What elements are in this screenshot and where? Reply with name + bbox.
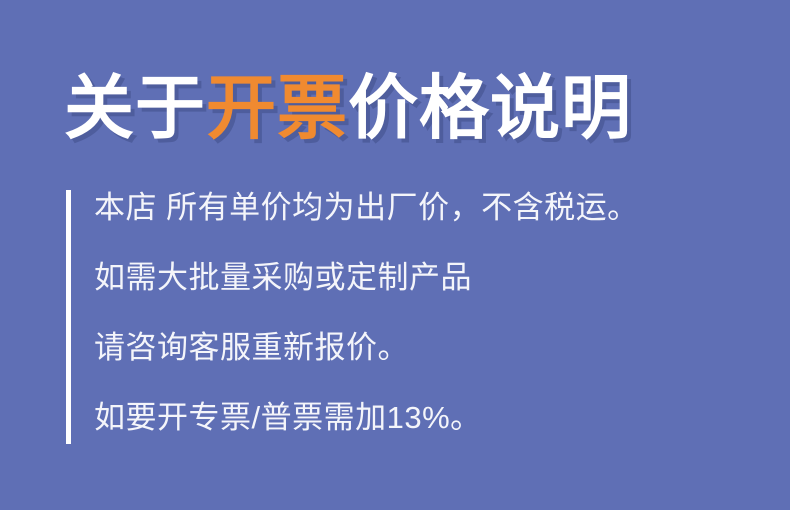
title-segment-highlight: 开票 — [206, 73, 348, 143]
title-segment-prefix: 关于 — [64, 73, 206, 143]
title-segment-suffix: 价格说明 — [348, 73, 632, 143]
notice-line: 本店 所有单价均为出厂价，不含税运。 — [94, 192, 726, 262]
notice-line: 请咨询客服重新报价。 — [94, 332, 726, 402]
banner-title: 关于 开票 价格说明 — [64, 62, 754, 154]
notice-line: 如需大批量采购或定制产品 — [94, 262, 726, 332]
notice-line: 如要开专票/普票需加13%。 — [94, 402, 726, 433]
notice-block: 本店 所有单价均为出厂价，不含税运。 如需大批量采购或定制产品 请咨询客服重新报… — [66, 190, 726, 444]
notice-line-list: 本店 所有单价均为出厂价，不含税运。 如需大批量采购或定制产品 请咨询客服重新报… — [71, 190, 726, 444]
promo-banner: 关于 开票 价格说明 本店 所有单价均为出厂价，不含税运。 如需大批量采购或定制… — [0, 0, 790, 510]
